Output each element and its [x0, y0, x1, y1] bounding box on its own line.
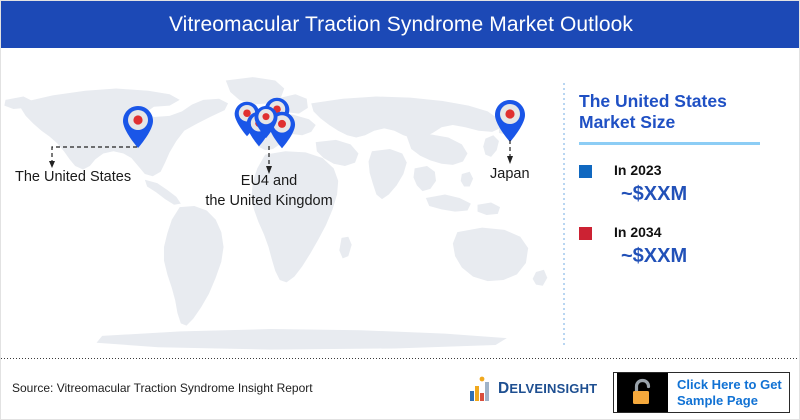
logo-wordmark: DELVEINSIGHT	[498, 380, 597, 398]
panel-title: The United States Market Size	[579, 91, 791, 133]
logo-bar-chart-icon	[469, 376, 497, 402]
location-pin-icon	[121, 104, 155, 150]
map-marker-united-states[interactable]	[121, 104, 155, 150]
map-label-eu4-line1: EU4 and	[186, 172, 352, 191]
location-pin-icon	[253, 104, 279, 140]
legend-texts: In 2034 ~$XXM	[614, 224, 687, 269]
logo-name: ELVEINSIGHT	[509, 381, 597, 396]
map-marker-eu4-e[interactable]	[253, 104, 279, 140]
legend-swatch-red	[579, 227, 592, 240]
legend-texts: In 2023 ~$XXM	[614, 162, 687, 207]
legend-year-2034: In 2034	[614, 224, 687, 241]
cta-label: Click Here to Get Sample Page	[668, 373, 789, 412]
header-bar: Vitreomacular Traction Syndrome Market O…	[1, 1, 800, 48]
panel-title-line2: Market Size	[579, 112, 791, 133]
leader-line-japan	[503, 140, 517, 168]
panel-title-line1: The United States	[579, 91, 791, 112]
legend-value-2034: ~$XXM	[621, 244, 687, 269]
market-size-panel: The United States Market Size In 2023 ~$…	[579, 91, 791, 269]
open-padlock-icon	[629, 378, 657, 408]
map-label-japan: Japan	[490, 165, 530, 184]
cta-line1: Click Here to Get	[677, 377, 782, 393]
page-title: Vitreomacular Traction Syndrome Market O…	[169, 13, 633, 37]
source-note: Source: Vitreomacular Traction Syndrome …	[12, 381, 313, 395]
location-pin-icon	[493, 98, 527, 144]
map-label-united-states: The United States	[15, 168, 131, 187]
legend-year-2023: In 2023	[614, 162, 687, 179]
world-map-region: The United States	[1, 48, 563, 353]
legend-item-2034: In 2034 ~$XXM	[579, 224, 791, 269]
legend-value-2023: ~$XXM	[621, 182, 687, 207]
get-sample-page-button[interactable]: Click Here to Get Sample Page	[613, 372, 790, 413]
footer-dotted-divider	[1, 358, 800, 360]
cta-line2: Sample Page	[677, 393, 782, 409]
lock-icon-container	[614, 373, 668, 412]
infographic-slide: Vitreomacular Traction Syndrome Market O…	[0, 0, 800, 420]
map-marker-japan[interactable]	[493, 98, 527, 144]
logo-prefix: D	[498, 380, 509, 397]
delveinsight-logo: DELVEINSIGHT	[469, 374, 589, 404]
vertical-dotted-divider	[563, 83, 565, 347]
map-label-eu4-line2: the United Kingdom	[186, 192, 352, 211]
panel-underline	[579, 142, 760, 145]
legend-item-2023: In 2023 ~$XXM	[579, 162, 791, 207]
legend-swatch-blue	[579, 165, 592, 178]
